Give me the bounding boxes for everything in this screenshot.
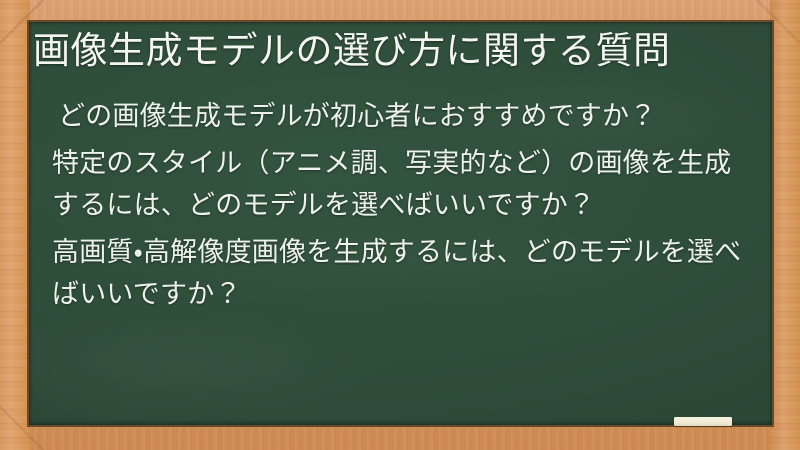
question-item-2: 特定のスタイル（アニメ調、写実的など）の画像を生成するには、どのモデルを選べばい… (52, 143, 752, 227)
question-list: どの画像生成モデルが初心者におすすめですか？ 特定のスタイル（アニメ調、写実的な… (52, 96, 752, 321)
slide-content: 画像生成モデルの選び方に関する質問 どの画像生成モデルが初心者におすすめですか？… (0, 0, 800, 450)
chalkboard-slide: 画像生成モデルの選び方に関する質問 どの画像生成モデルが初心者におすすめですか？… (0, 0, 800, 450)
question-item-1: どの画像生成モデルが初心者におすすめですか？ (52, 96, 752, 138)
question-item-3: 高画質・高解像度画像を生成するには、どのモデルを選べばいいですか？ (52, 232, 752, 316)
chalk-stick (674, 417, 732, 426)
slide-title: 画像生成モデルの選び方に関する質問 (33, 28, 723, 74)
